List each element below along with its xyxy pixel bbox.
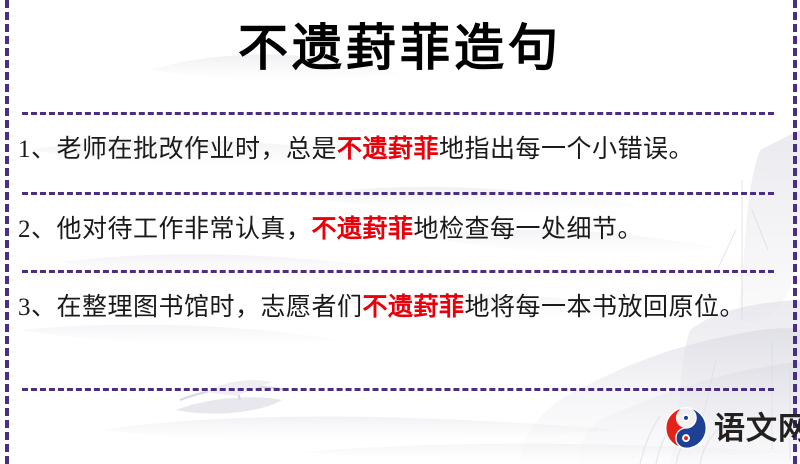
sentence-item-1: 1、老师在批改作业时，总是不遗葑菲地指出每一个小错误。 [18, 130, 776, 170]
idiom-highlight-3: 不遗葑菲 [363, 294, 465, 321]
divider-dashed-2 [22, 192, 774, 195]
idiom-highlight-1: 不遗葑菲 [337, 136, 439, 163]
divider-dashed-3 [22, 270, 774, 273]
site-logo-text: 语文网 [714, 413, 800, 444]
divider-dashed-4 [22, 388, 774, 391]
sentence-text-before-3: 在整理图书馆时，志愿者们 [57, 294, 363, 321]
sentence-text-after-3: 地将每一本书放回原位。 [465, 294, 746, 321]
sentence-card-page: 不遗葑菲造句 1、老师在批改作业时，总是不遗葑菲地指出每一个小错误。 2、他对待… [0, 0, 800, 464]
frame-left-dashed-border [5, 0, 9, 464]
site-logo[interactable]: 语文网 [664, 406, 800, 450]
idiom-highlight-2: 不遗葑菲 [312, 216, 414, 243]
page-title: 不遗葑菲造句 [0, 18, 800, 78]
sentence-index-3: 3、 [18, 294, 57, 321]
sentence-text-before-1: 老师在批改作业时，总是 [57, 136, 338, 163]
sentence-text-after-1: 地指出每一个小错误。 [439, 136, 694, 163]
sentence-index-2: 2、 [18, 216, 57, 243]
yinyang-fish-logo-icon [664, 406, 708, 450]
sentence-item-3: 3、在整理图书馆时，志愿者们不遗葑菲地将每一本书放回原位。 [18, 288, 776, 328]
frame-right-dashed-border [793, 0, 797, 464]
sentence-item-2: 2、他对待工作非常认真，不遗葑菲地检查每一处细节。 [18, 210, 776, 250]
sentence-text-after-2: 地检查每一处细节。 [414, 216, 644, 243]
sentence-index-1: 1、 [18, 136, 57, 163]
divider-dashed-1 [22, 112, 774, 115]
sentence-text-before-2: 他对待工作非常认真， [57, 216, 312, 243]
